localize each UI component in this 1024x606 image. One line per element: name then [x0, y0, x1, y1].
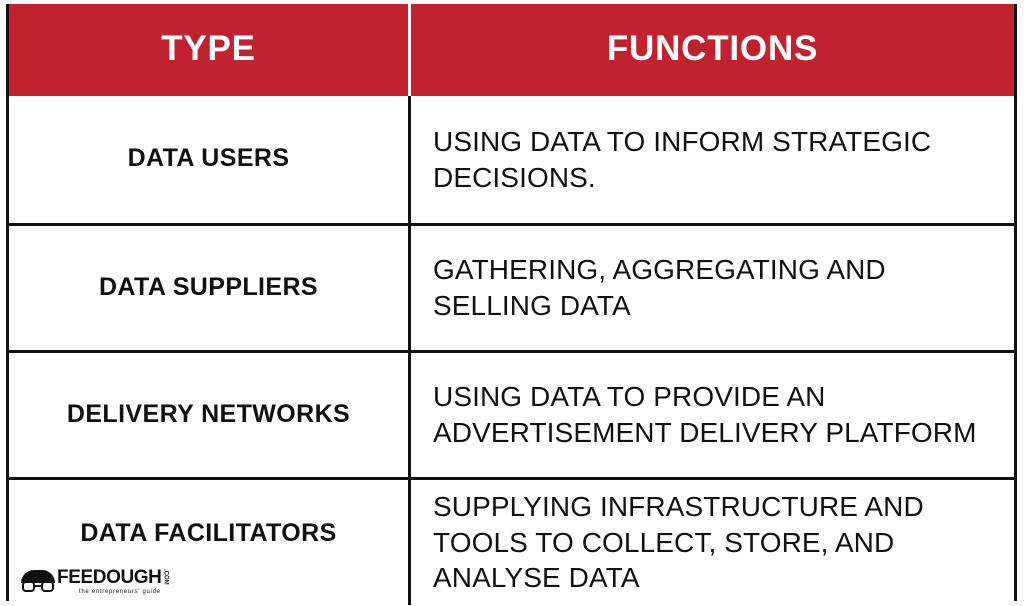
logo-tagline: the entrepreneurs' guide [79, 588, 168, 596]
table-row: DATA SUPPLIERS GATHERING, AGGREGATING AN… [9, 223, 1014, 350]
feedough-face-icon [21, 570, 55, 596]
row-type-label: DATA FACILITATORS [80, 520, 336, 548]
cell-functions: GATHERING, AGGREGATING AND SELLING DATA [411, 226, 1014, 350]
lens-left [22, 581, 35, 592]
cell-type: DATA SUPPLIERS [9, 226, 411, 350]
row-functions-text: SUPPLYING INFRASTRUCTURE AND TOOLS TO CO… [433, 489, 1006, 596]
table-body: DATA USERS USING DATA TO INFORM STRATEGI… [9, 96, 1014, 598]
table-header-row: TYPE FUNCTIONS [9, 4, 1014, 96]
row-type-label: DELIVERY NETWORKS [67, 401, 350, 429]
glasses-icon [22, 581, 54, 594]
feedough-logo: FEEDOUGH .COM the entrepreneurs' guide [21, 566, 168, 596]
table-row: DATA FACILITATORS [9, 477, 1014, 605]
logo-domain-suffix: .COM [162, 569, 168, 587]
cell-functions: SUPPLYING INFRASTRUCTURE AND TOOLS TO CO… [411, 480, 1014, 605]
logo-wordmark: FEEDOUGH [57, 568, 161, 587]
column-header-type: TYPE [9, 4, 411, 96]
logo-primary-line: FEEDOUGH .COM [57, 568, 168, 587]
column-header-type-label: TYPE [161, 31, 256, 66]
cell-type: DATA FACILITATORS [9, 480, 411, 605]
column-header-functions-label: FUNCTIONS [607, 31, 818, 66]
column-header-functions: FUNCTIONS [411, 4, 1014, 96]
screenshot-root: TYPE FUNCTIONS DATA USERS USING DATA TO … [0, 0, 1024, 606]
cell-type: DELIVERY NETWORKS [9, 353, 411, 477]
table-row: DELIVERY NETWORKS USING DATA TO PROVIDE … [9, 350, 1014, 477]
row-type-label: DATA SUPPLIERS [99, 274, 318, 302]
cell-functions: USING DATA TO INFORM STRATEGIC DECISIONS… [411, 96, 1014, 223]
cell-type: DATA USERS [9, 96, 411, 223]
lens-right [41, 581, 54, 592]
comparison-table: TYPE FUNCTIONS DATA USERS USING DATA TO … [6, 4, 1017, 601]
row-functions-text: USING DATA TO INFORM STRATEGIC DECISIONS… [433, 124, 1006, 196]
table-row: DATA USERS USING DATA TO INFORM STRATEGI… [9, 96, 1014, 223]
row-type-label: DATA USERS [128, 145, 290, 173]
cell-functions: USING DATA TO PROVIDE AN ADVERTISEMENT D… [411, 353, 1014, 477]
row-functions-text: GATHERING, AGGREGATING AND SELLING DATA [433, 252, 1006, 324]
row-functions-text: USING DATA TO PROVIDE AN ADVERTISEMENT D… [433, 379, 1006, 451]
table-body-wrapper: TYPE FUNCTIONS DATA USERS USING DATA TO … [9, 4, 1014, 598]
logo-text-block: FEEDOUGH .COM the entrepreneurs' guide [57, 568, 168, 596]
